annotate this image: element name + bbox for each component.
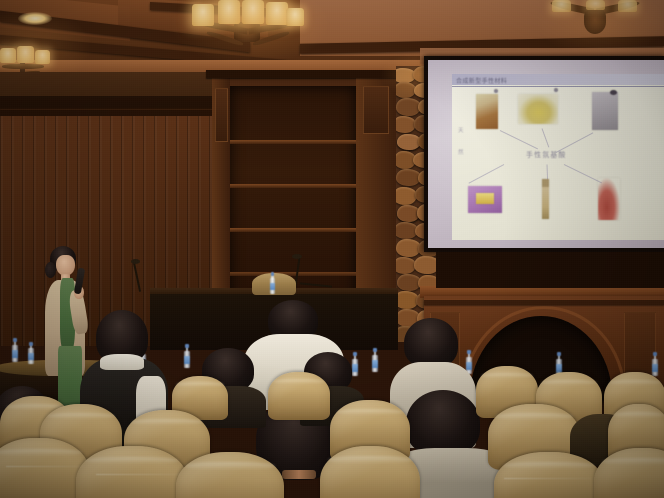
chandelier-right-shade-1 xyxy=(552,0,571,12)
attendee-hair xyxy=(404,318,458,368)
bottle-label xyxy=(12,350,18,358)
bottle-label xyxy=(28,353,34,360)
chandelier-shade-3 xyxy=(242,0,264,24)
bottle-label xyxy=(372,360,378,368)
thumbnail-purple-box-inset xyxy=(476,193,494,204)
chandelier-center xyxy=(190,0,308,58)
thumbnail-package xyxy=(476,94,498,129)
water-bottle xyxy=(12,338,18,362)
stone-block xyxy=(414,256,436,274)
slide-arrow-tc xyxy=(542,128,550,147)
bookshelf-left-panel xyxy=(215,88,228,142)
slide-arrow-bl xyxy=(468,164,504,184)
slide-arrow-tl xyxy=(500,130,538,149)
chandelier-shade-2 xyxy=(218,0,240,24)
water-bottle xyxy=(652,352,658,376)
chair-seam xyxy=(504,478,592,479)
water-bottle xyxy=(372,348,378,372)
stone-block xyxy=(396,187,417,205)
chair-seam xyxy=(6,466,84,467)
chair-seam xyxy=(96,474,180,475)
attendee-hair-clip xyxy=(282,470,316,479)
bottle-label xyxy=(652,364,658,372)
water-bottle xyxy=(270,272,275,294)
attendee-collar xyxy=(100,354,144,370)
conference-room-photo: 合成新型手性材料 手性氛基酸 天 然 xyxy=(0,0,664,498)
bookshelf-cavity xyxy=(230,86,356,302)
projection-screen: 合成新型手性材料 手性氛基酸 天 然 xyxy=(428,60,664,248)
slide-left-label-1: 天 xyxy=(458,126,464,134)
chandelier-shade-5 xyxy=(286,8,304,26)
mantel-frieze xyxy=(424,300,664,305)
sconce-shade-2 xyxy=(17,46,34,63)
microphone-head-right xyxy=(292,254,302,259)
water-bottle xyxy=(28,342,34,364)
attendee-hair xyxy=(406,390,480,456)
right-wall-shadow xyxy=(436,252,664,288)
stone-block xyxy=(396,257,416,274)
slide-center-label: 手性氛基酸 xyxy=(526,150,567,160)
bottle-label xyxy=(184,356,190,364)
bookshelf-shelf-1 xyxy=(230,140,356,144)
wall-sconce-left xyxy=(0,28,58,78)
water-bottle xyxy=(184,344,190,368)
chandelier-right xyxy=(548,0,646,42)
thumbnail-gray-sample xyxy=(592,92,618,130)
microphone-head-left xyxy=(131,259,140,264)
chandelier-right-body xyxy=(584,10,606,34)
bookshelf-shelf-4 xyxy=(230,272,356,276)
bottle-label xyxy=(270,283,275,290)
presenter-ponytail xyxy=(45,262,56,278)
thumbnail-bottle xyxy=(542,179,549,219)
bookshelf-shelf-3 xyxy=(230,228,356,232)
slide-icon-clip-3 xyxy=(610,90,617,95)
slide-arrow-br xyxy=(564,164,602,183)
sconce-arm-1 xyxy=(2,64,44,69)
chandelier-shade-1 xyxy=(192,4,214,26)
chandelier-right-shade-2 xyxy=(586,0,605,10)
slide-title: 合成新型手性材料 xyxy=(456,76,507,85)
slide-divider xyxy=(452,86,664,87)
presenter-face xyxy=(56,255,75,276)
chandelier-shade-4 xyxy=(266,2,288,25)
slide-icon-clip-2 xyxy=(554,88,558,92)
slide-icon-clip-1 xyxy=(494,89,498,93)
recessed-downlight-left xyxy=(18,12,52,25)
stone-block xyxy=(396,82,416,98)
bookshelf-pilaster-panel xyxy=(363,86,389,134)
stone-block xyxy=(396,116,416,133)
chandelier-right-shade-3 xyxy=(618,0,637,12)
presentation-slide: 合成新型手性材料 手性氛基酸 天 然 xyxy=(452,74,664,240)
bookshelf-shelf-2 xyxy=(230,184,356,188)
thumbnail-red-flame xyxy=(598,178,620,220)
slide-left-label-2: 然 xyxy=(458,148,464,156)
sconce-shade-3 xyxy=(35,50,50,64)
banquet-chair xyxy=(268,372,330,420)
sconce-shade-1 xyxy=(0,48,16,63)
bottle-label xyxy=(556,364,562,372)
thumbnail-yellow-crystals xyxy=(518,94,558,124)
bookshelf-cornice xyxy=(206,70,402,78)
